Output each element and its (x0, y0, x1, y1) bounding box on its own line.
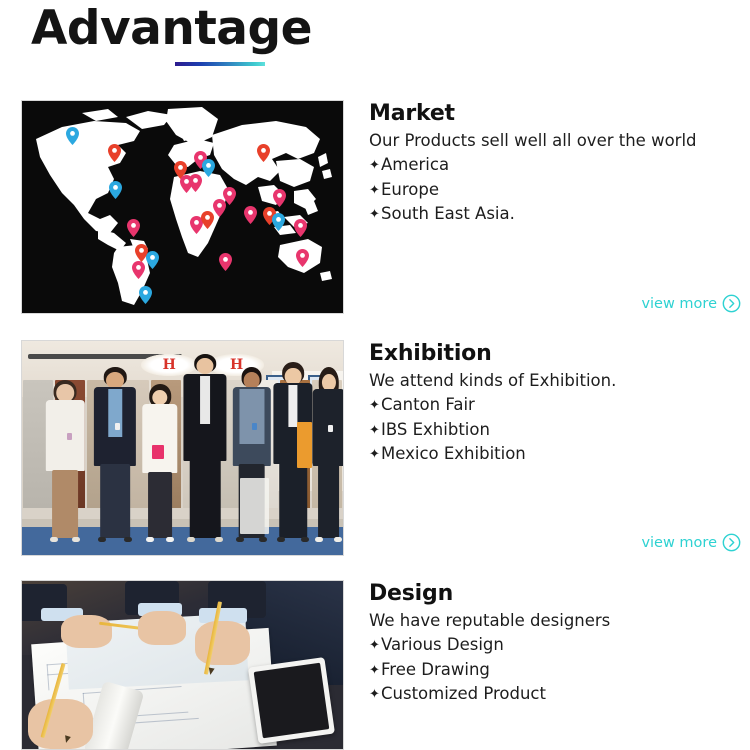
person (93, 367, 138, 538)
person (141, 384, 180, 538)
diamond-bullet-icon: ✦ (369, 399, 381, 412)
exhibition-booth-scene: H H (22, 341, 343, 555)
section-design: Design We have reputable designers ✦Vari… (0, 580, 750, 750)
diamond-bullet-icon: ✦ (369, 424, 381, 437)
exhibition-view-more-link[interactable]: view more (641, 533, 741, 552)
list-item: ✦America (369, 153, 739, 177)
booth-logo-text: H (163, 357, 175, 373)
map-pin-pink (294, 219, 307, 237)
page-title: Advantage (31, 4, 312, 53)
chevron-right-circle-icon (722, 533, 741, 552)
map-pin-blue (272, 213, 285, 231)
map-pin-red (108, 144, 121, 162)
exhibition-list: ✦Canton Fair ✦IBS Exhibtion ✦Mexico Exhi… (369, 393, 739, 466)
list-item-label: IBS Exhibtion (381, 418, 490, 442)
design-heading: Design (369, 580, 739, 608)
tablet-device (248, 657, 335, 744)
orange-folder (297, 422, 311, 468)
list-item-label: Customized Product (381, 682, 546, 706)
map-pin-pink (296, 249, 309, 267)
map-pin-pink (127, 219, 140, 237)
shopping-bag (240, 478, 269, 534)
view-more-label: view more (641, 296, 717, 312)
list-item-label: Europe (381, 178, 439, 202)
diamond-bullet-icon: ✦ (369, 184, 381, 197)
hand (195, 621, 250, 665)
list-item-label: Mexico Exhibition (381, 442, 526, 466)
diamond-bullet-icon: ✦ (369, 448, 381, 461)
list-item-label: Free Drawing (381, 658, 490, 682)
map-pin-pink (219, 253, 232, 271)
list-item-label: South East Asia. (381, 202, 515, 226)
design-image (21, 580, 344, 750)
map-pin-blue (109, 181, 122, 199)
market-view-more-link[interactable]: view more (641, 294, 741, 313)
map-pin-blue (202, 159, 215, 177)
section-exhibition: H H (0, 340, 750, 556)
diamond-bullet-icon: ✦ (369, 159, 381, 172)
list-item-label: Various Design (381, 633, 504, 657)
map-pin-blue (66, 127, 79, 145)
person (311, 367, 344, 538)
map-pin-pink (273, 189, 286, 207)
exhibition-image: H H (21, 340, 344, 556)
hand (138, 611, 186, 645)
map-pin-blue (146, 251, 159, 269)
map-pin-pink (223, 187, 236, 205)
market-subtitle: Our Products sell well all over the worl… (369, 129, 739, 153)
market-heading: Market (369, 100, 739, 128)
map-pin-pink (132, 261, 145, 279)
list-item: ✦Canton Fair (369, 393, 739, 417)
list-item: ✦Europe (369, 178, 739, 202)
market-text-block: Market Our Products sell well all over t… (369, 100, 739, 227)
person (183, 354, 228, 538)
exhibition-subtitle: We attend kinds of Exhibition. (369, 369, 739, 393)
section-market: Market Our Products sell well all over t… (0, 100, 750, 314)
person (272, 362, 314, 537)
design-desk-scene (22, 581, 343, 749)
diamond-bullet-icon: ✦ (369, 639, 381, 652)
list-item: ✦Mexico Exhibition (369, 442, 739, 466)
hand (28, 699, 92, 749)
hand (61, 615, 112, 649)
list-item-label: Canton Fair (381, 393, 475, 417)
map-pin-red (257, 144, 270, 162)
map-pin-blue (139, 286, 152, 304)
market-image (21, 100, 344, 314)
diamond-bullet-icon: ✦ (369, 688, 381, 701)
pencil-tip-icon (63, 735, 71, 743)
design-list: ✦Various Design ✦Free Drawing ✦Customize… (369, 633, 739, 706)
chevron-right-circle-icon (722, 294, 741, 313)
design-text-block: Design We have reputable designers ✦Vari… (369, 580, 739, 707)
list-item: ✦Customized Product (369, 682, 739, 706)
list-item: ✦Various Design (369, 633, 739, 657)
list-item-label: America (381, 153, 449, 177)
exhibition-text-block: Exhibition We attend kinds of Exhibition… (369, 340, 739, 467)
person (44, 380, 86, 538)
list-item: ✦IBS Exhibtion (369, 418, 739, 442)
title-underline-accent (175, 62, 265, 66)
diamond-bullet-icon: ✦ (369, 208, 381, 221)
map-pin-pink (244, 206, 257, 224)
advantage-page: Advantage (0, 0, 750, 750)
list-item: ✦South East Asia. (369, 202, 739, 226)
diamond-bullet-icon: ✦ (369, 664, 381, 677)
market-list: ✦America ✦Europe ✦South East Asia. (369, 153, 739, 226)
view-more-label: view more (641, 535, 717, 551)
exhibition-heading: Exhibition (369, 340, 739, 368)
list-item: ✦Free Drawing (369, 658, 739, 682)
map-pin-pink (189, 174, 202, 192)
design-subtitle: We have reputable designers (369, 609, 739, 633)
